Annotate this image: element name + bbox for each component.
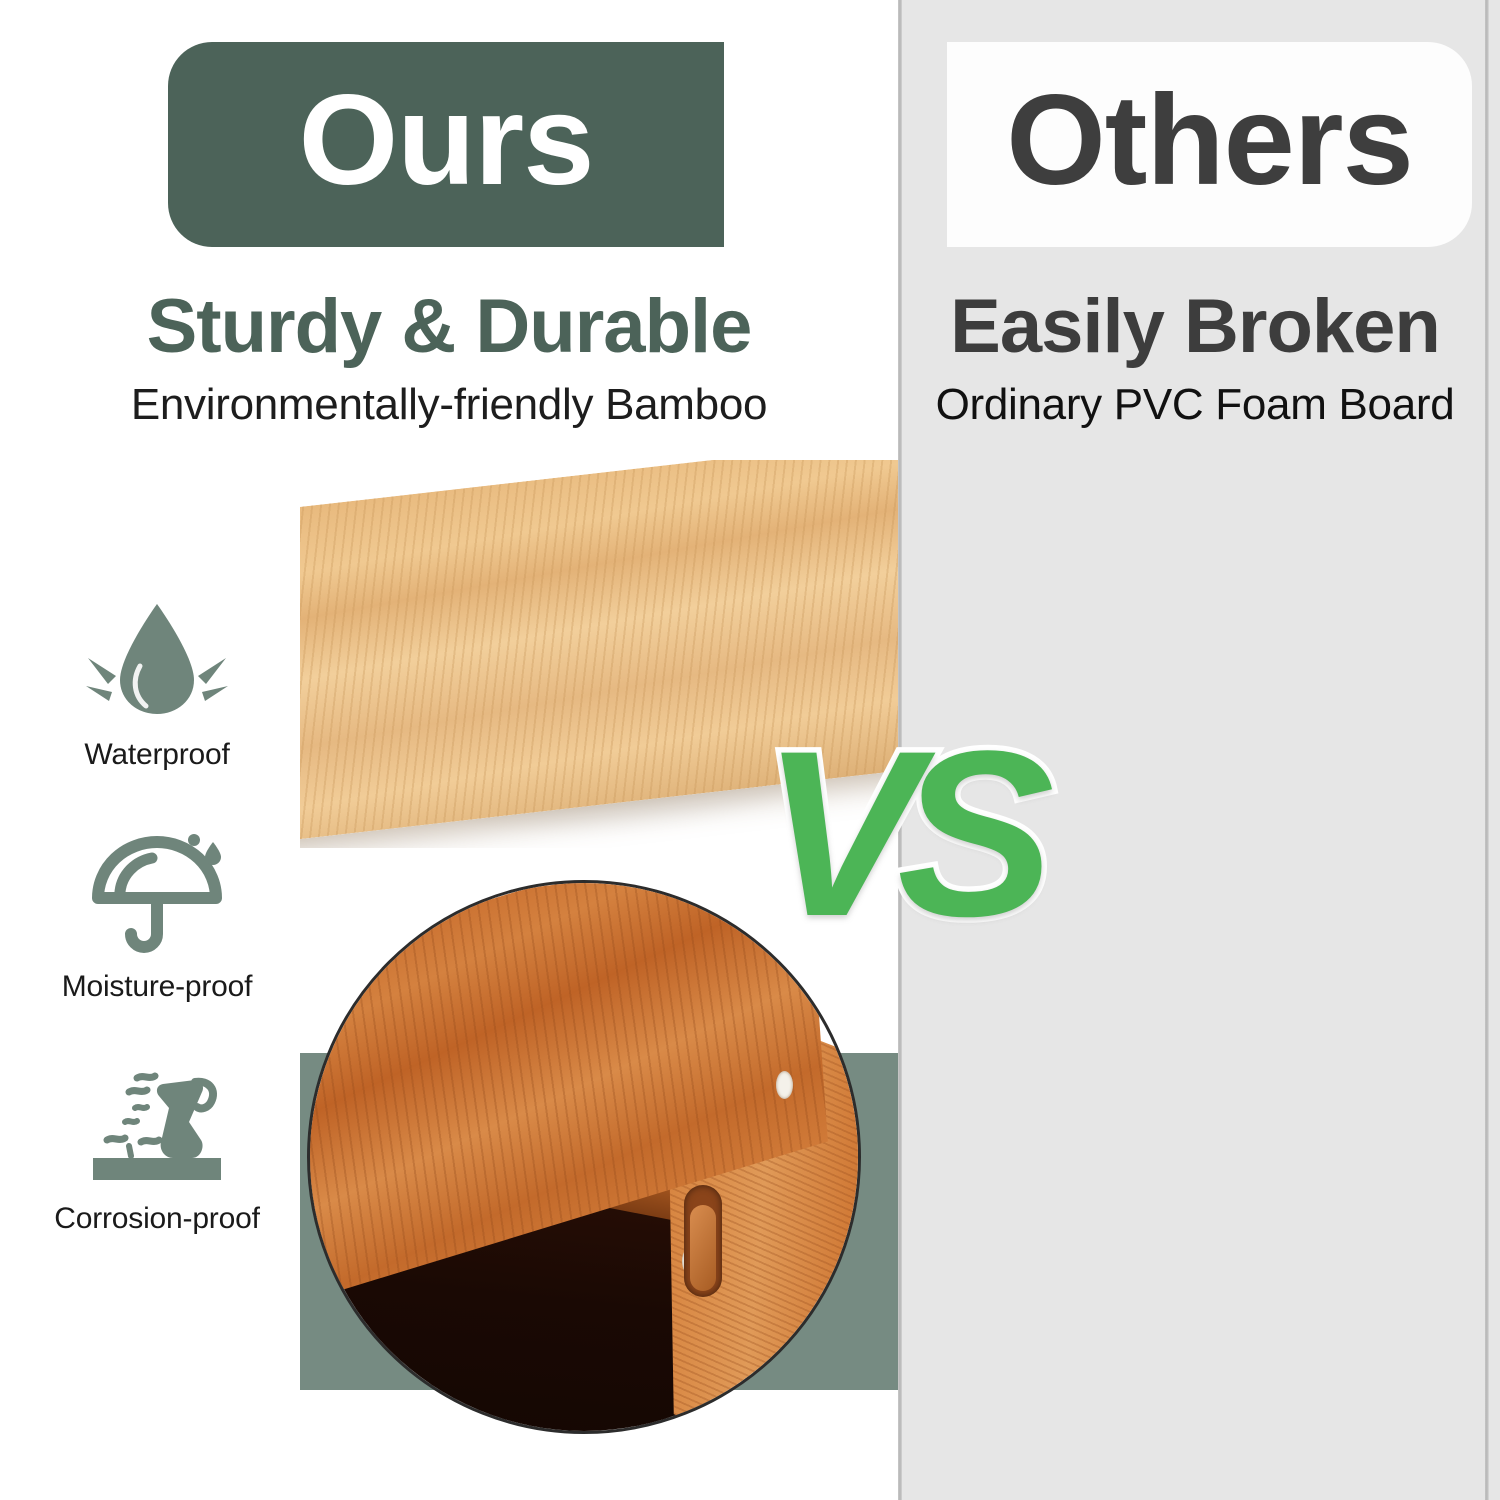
ours-heading-group: Sturdy & Durable Environmentally-friendl… [0,288,898,428]
others-subheading: Ordinary PVC Foam Board [902,382,1488,428]
ours-badge: Ours [168,42,724,247]
feature-list: Waterproof Moisture-proof [22,596,292,1292]
ours-badge-label: Ours [299,77,594,205]
feature-corrosion-proof: Corrosion-proof [22,1060,292,1236]
feature-label: Corrosion-proof [22,1202,292,1236]
box-grommet [776,1071,793,1099]
others-heading: Easily Broken [902,288,1488,366]
box-cable-slot-inner [690,1205,716,1291]
ours-subheading: Environmentally-friendly Bamboo [0,382,898,428]
comparison-infographic: Ours Sturdy & Durable Environmentally-fr… [0,0,1500,1500]
corrosion-beaker-icon [22,1060,292,1190]
others-badge-label: Others [1006,77,1413,205]
others-heading-group: Easily Broken Ordinary PVC Foam Board [902,288,1488,428]
umbrella-raindrops-icon [22,828,292,958]
feature-waterproof: Waterproof [22,596,292,772]
others-badge: Others [947,42,1472,247]
vs-label: VS [742,700,1052,968]
feature-moisture-proof: Moisture-proof [22,828,292,1004]
ours-heading: Sturdy & Durable [0,288,898,366]
right-edge-line [1485,0,1489,1500]
feature-label: Waterproof [22,738,292,772]
water-drop-splash-icon [22,596,292,726]
feature-label: Moisture-proof [22,970,292,1004]
